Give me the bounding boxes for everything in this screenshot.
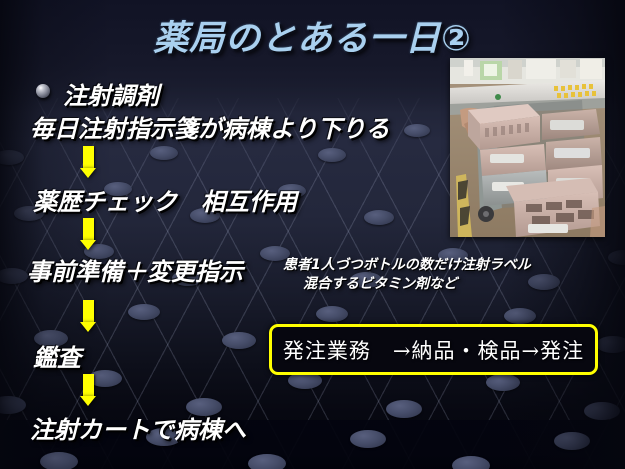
ordering-workflow-callout-box: 発注業務 →納品・検品→発注 [269, 324, 598, 375]
flow-step-2: 薬歴チェック 相互作用 [33, 182, 297, 217]
down-arrow-icon-4 [80, 374, 96, 406]
flow-step-4: 鑑査 [33, 338, 81, 373]
down-arrow-icon-1 [80, 146, 96, 178]
annotation-line-1: 患者1人づつボトルの数だけ注射ラベル [283, 256, 531, 275]
annotation-line-2: 混合するビタミン剤など [303, 275, 457, 294]
flow-step-3: 事前準備＋変更指示 [27, 252, 243, 287]
down-arrow-icon-2 [80, 218, 96, 250]
callout-box-text: 発注業務 →納品・検品→発注 [272, 335, 595, 365]
presentation-slide: 薬局のとある一日② [0, 0, 625, 469]
flow-step-5: 注射カートで病棟へ [30, 410, 246, 445]
sphere-bullet-icon [36, 84, 50, 98]
slide-title: 薬局のとある一日② [0, 10, 625, 61]
photo-artwork [450, 58, 605, 237]
pharmacy-cart-photo [450, 58, 605, 237]
flow-step-1: 毎日注射指示箋が病棟より下りる [30, 109, 390, 144]
down-arrow-icon-3 [80, 300, 96, 332]
flow-bullet-heading: 注射調剤 [63, 76, 159, 111]
